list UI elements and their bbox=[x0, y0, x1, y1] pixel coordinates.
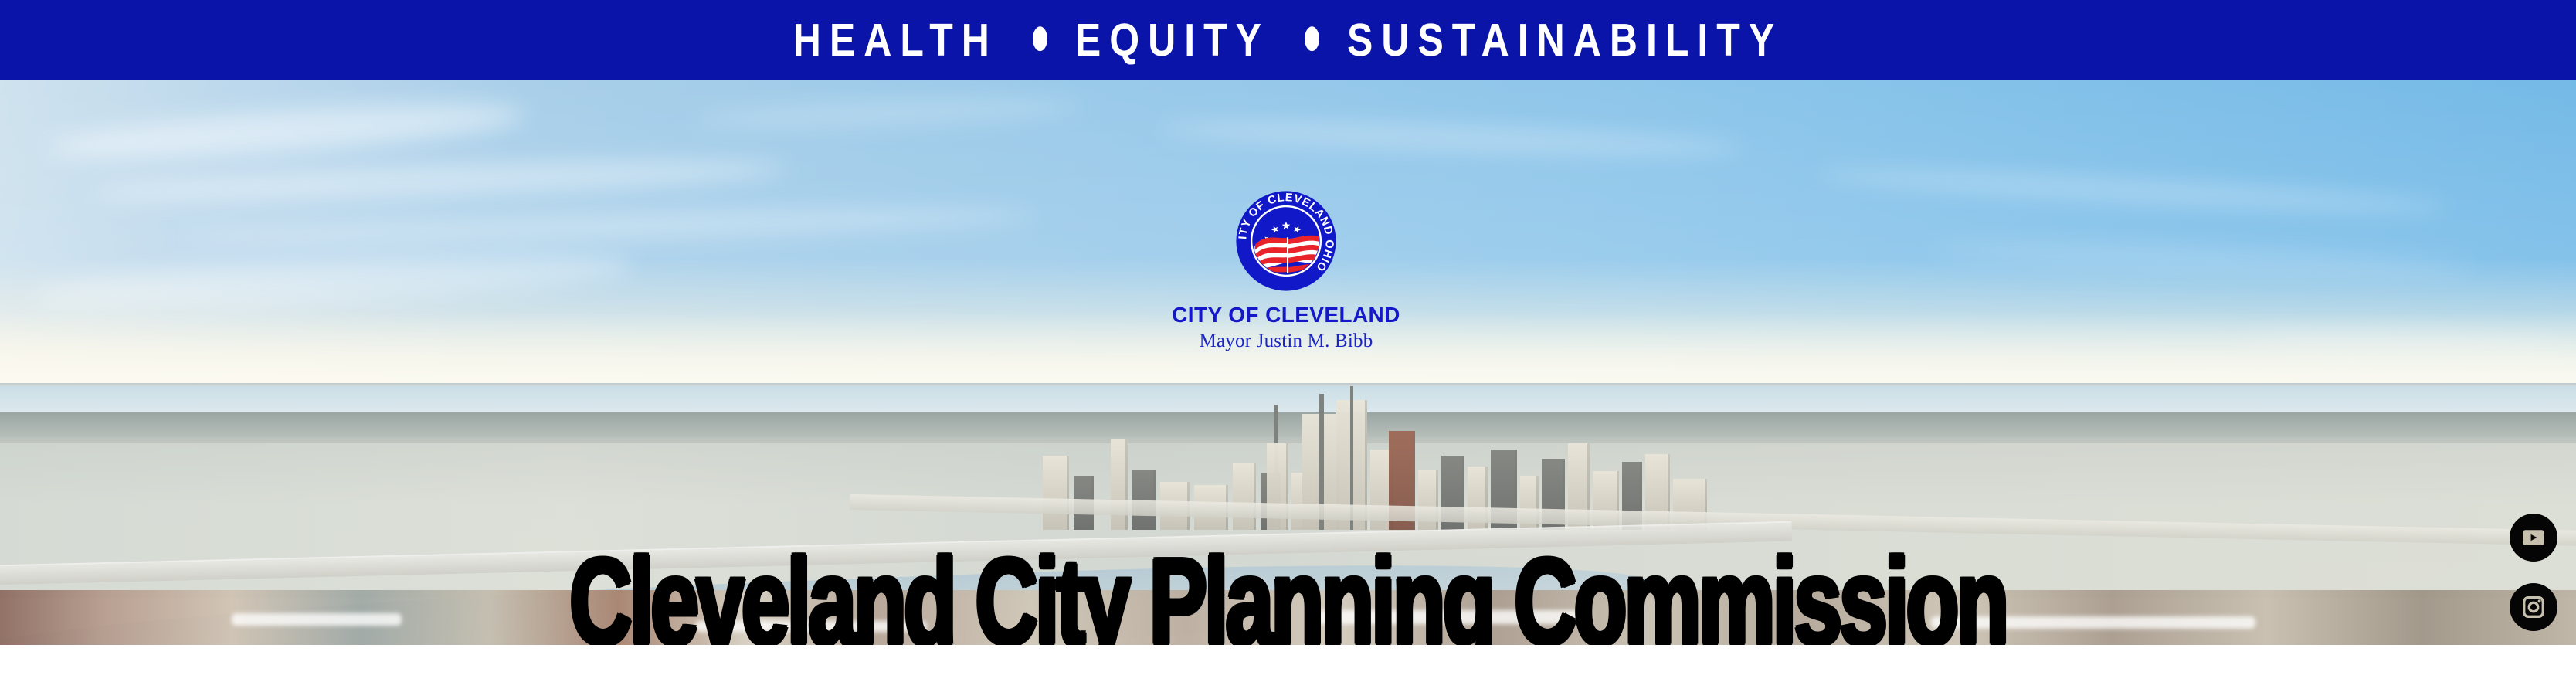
social-links-rail bbox=[2510, 514, 2557, 645]
logo-mayor-line: Mayor Justin M. Bibb bbox=[1200, 331, 1373, 352]
tagline-banner: HEALTH EQUITY SUSTAINABILITY bbox=[0, 0, 2576, 80]
hero-photo: CITY OF CLEVELAND OHIO bbox=[0, 80, 2576, 645]
tagline-bullet-dot-2 bbox=[1305, 26, 1319, 51]
youtube-icon bbox=[2518, 522, 2549, 553]
tagline-bullet-dot-1 bbox=[1033, 26, 1047, 51]
instagram-icon bbox=[2518, 592, 2549, 623]
social-link-instagram[interactable] bbox=[2510, 583, 2557, 631]
tagline-text-group: HEALTH EQUITY SUSTAINABILITY bbox=[793, 14, 1783, 66]
page-root: HEALTH EQUITY SUSTAINABILITY bbox=[0, 0, 2576, 682]
tagline-word-sustainability: SUSTAINABILITY bbox=[1347, 14, 1783, 66]
city-logo-block[interactable]: CITY OF CLEVELAND OHIO bbox=[1105, 188, 1468, 389]
page-title: Cleveland City Planning Commission bbox=[0, 541, 2576, 645]
social-link-youtube[interactable] bbox=[2510, 514, 2557, 562]
city-of-cleveland-seal-icon: CITY OF CLEVELAND OHIO bbox=[1234, 188, 1339, 293]
tagline-word-health: HEALTH bbox=[793, 14, 998, 66]
logo-org-name: CITY OF CLEVELAND bbox=[1172, 303, 1400, 327]
tagline-word-equity: EQUITY bbox=[1075, 14, 1270, 66]
